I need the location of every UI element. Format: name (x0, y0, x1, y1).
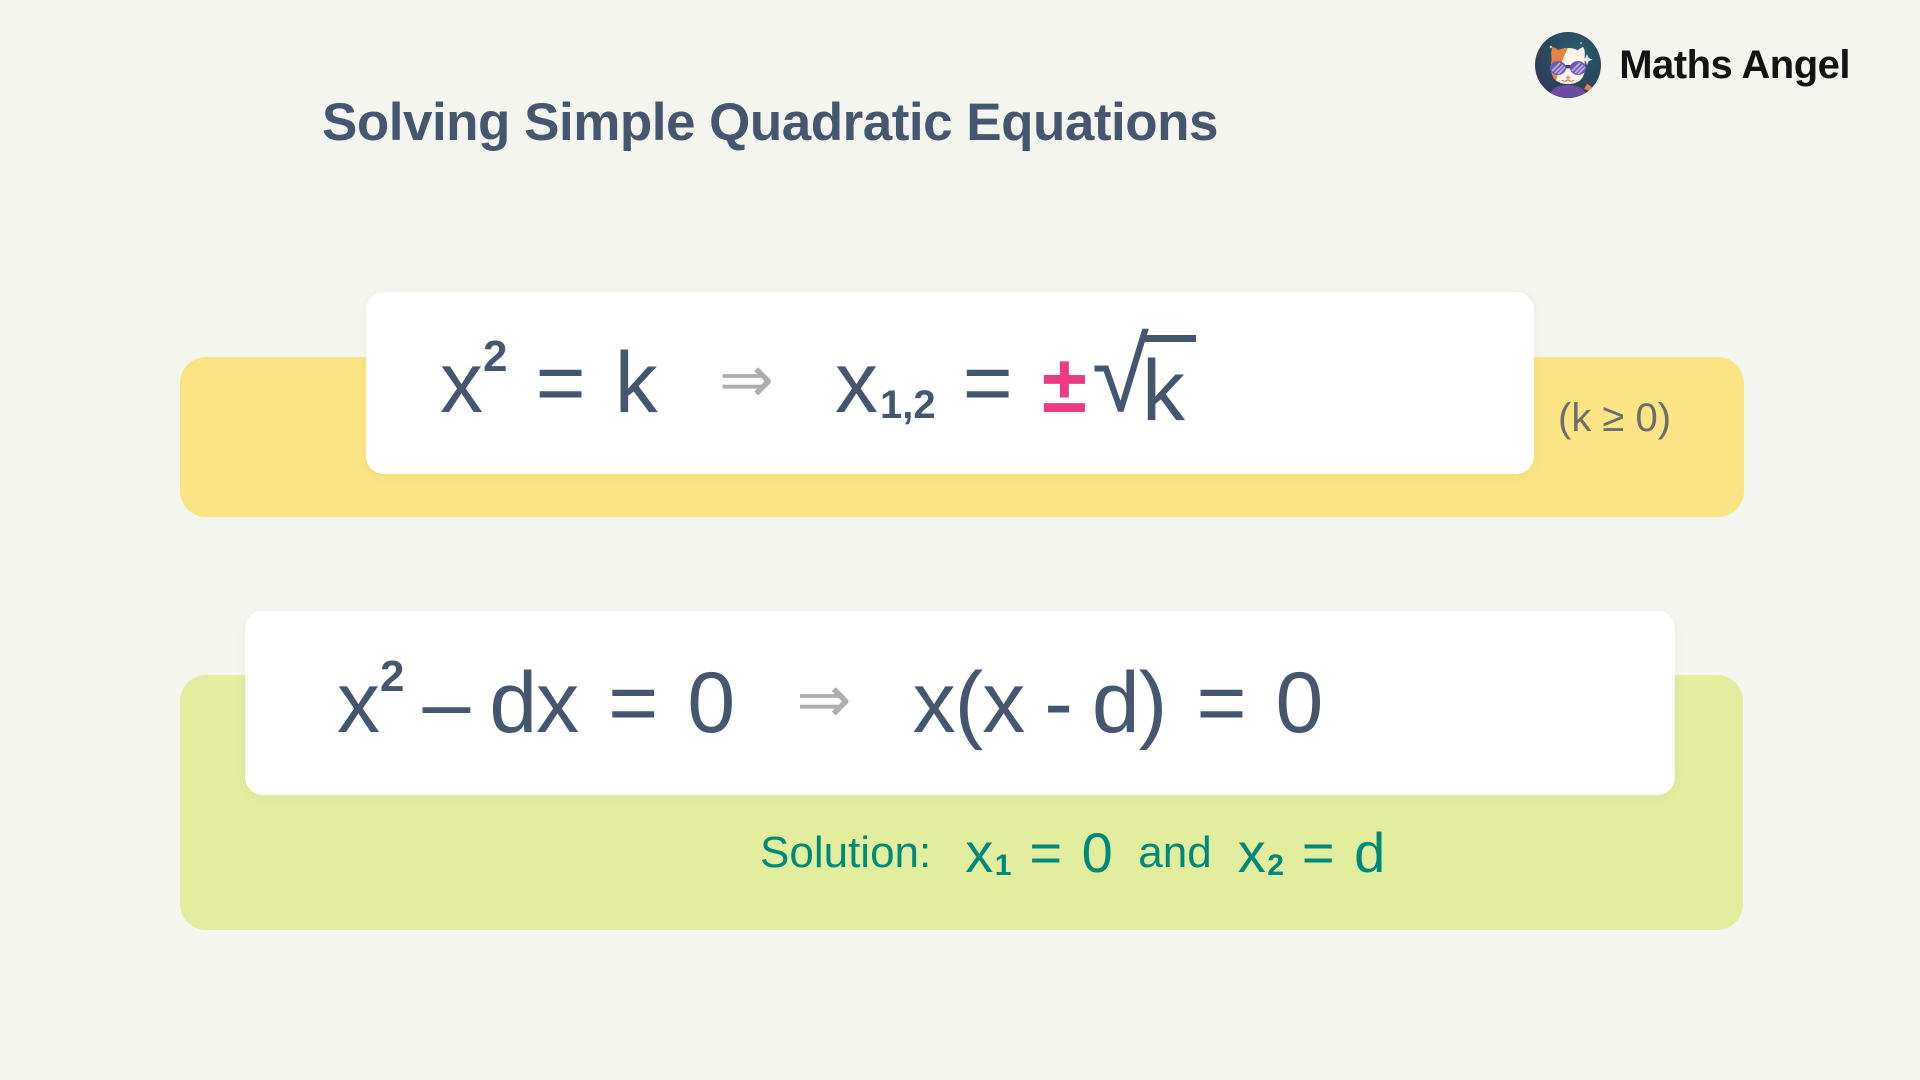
root-one-subscript: 1 (995, 849, 1012, 883)
solution-label: Solution: (760, 828, 931, 878)
solution-root-two: x 2 = d (1238, 820, 1385, 885)
root-two-subscript: 2 (1267, 849, 1284, 883)
case-two-factored-prefix: x(x (913, 660, 1025, 746)
case-two-minus-sign: – (422, 660, 469, 746)
square-root-expression: √ k (1092, 332, 1196, 431)
case-one-rhs-k: k (615, 340, 657, 426)
case-two-equation: x 2 – dx = 0 ⇒ x(x - d) = 0 (337, 660, 1322, 746)
implies-arrow-icon: ⇒ (796, 666, 850, 732)
case-one-exponent: 2 (483, 335, 506, 379)
case-two-factored-equals-sign: = (1196, 660, 1245, 746)
case-two-linear-term: dx (489, 660, 578, 746)
case-two-factored-minus-sign: - (1044, 660, 1072, 746)
case-one-condition-note: (k ≥ 0) (1558, 396, 1671, 441)
case-two-factored-suffix: d) (1092, 660, 1166, 746)
case-one-equals-sign: = (535, 340, 584, 426)
case-one-result-equals-sign: = (963, 340, 1012, 426)
root-one-variable: x (965, 820, 993, 885)
brand-name: Maths Angel (1619, 43, 1850, 88)
page-title: Solving Simple Quadratic Equations (0, 92, 1540, 153)
radicand: k (1140, 335, 1196, 434)
root-two-variable: x (1238, 820, 1266, 885)
case-two-rhs-zero: 0 (687, 660, 734, 746)
solution-root-one: x 1 = 0 (965, 820, 1112, 885)
case-two-equals-sign: = (608, 660, 657, 746)
root-one-value: 0 (1082, 820, 1113, 885)
case-two-exponent: 2 (380, 655, 403, 699)
brand-logo: Maths Angel (1535, 32, 1850, 98)
case-one-result-subscript: 1,2 (880, 385, 936, 425)
case-two-solution-row: Solution: x 1 = 0 and x 2 = d (760, 820, 1385, 885)
case-one-lhs-variable: x (440, 340, 482, 426)
case-two-factored-rhs-zero: 0 (1276, 660, 1323, 746)
root-two-value: d (1354, 820, 1385, 885)
case-one-equation: x 2 = k ⇒ x 1,2 = ± √ k (440, 334, 1196, 433)
implies-arrow-icon: ⇒ (719, 346, 773, 412)
root-one-equals-sign: = (1029, 820, 1061, 885)
solution-conjunction: and (1138, 828, 1211, 878)
case-two-formula-card: x 2 – dx = 0 ⇒ x(x - d) = 0 (245, 611, 1675, 795)
root-two-equals-sign: = (1302, 820, 1334, 885)
case-one-result-variable: x (835, 340, 877, 426)
cat-with-sunglasses-avatar-icon (1535, 32, 1601, 98)
case-two-lhs-variable: x (337, 660, 379, 746)
case-one-formula-card: x 2 = k ⇒ x 1,2 = ± √ k (366, 292, 1534, 474)
plus-minus-sign: ± (1042, 344, 1086, 426)
